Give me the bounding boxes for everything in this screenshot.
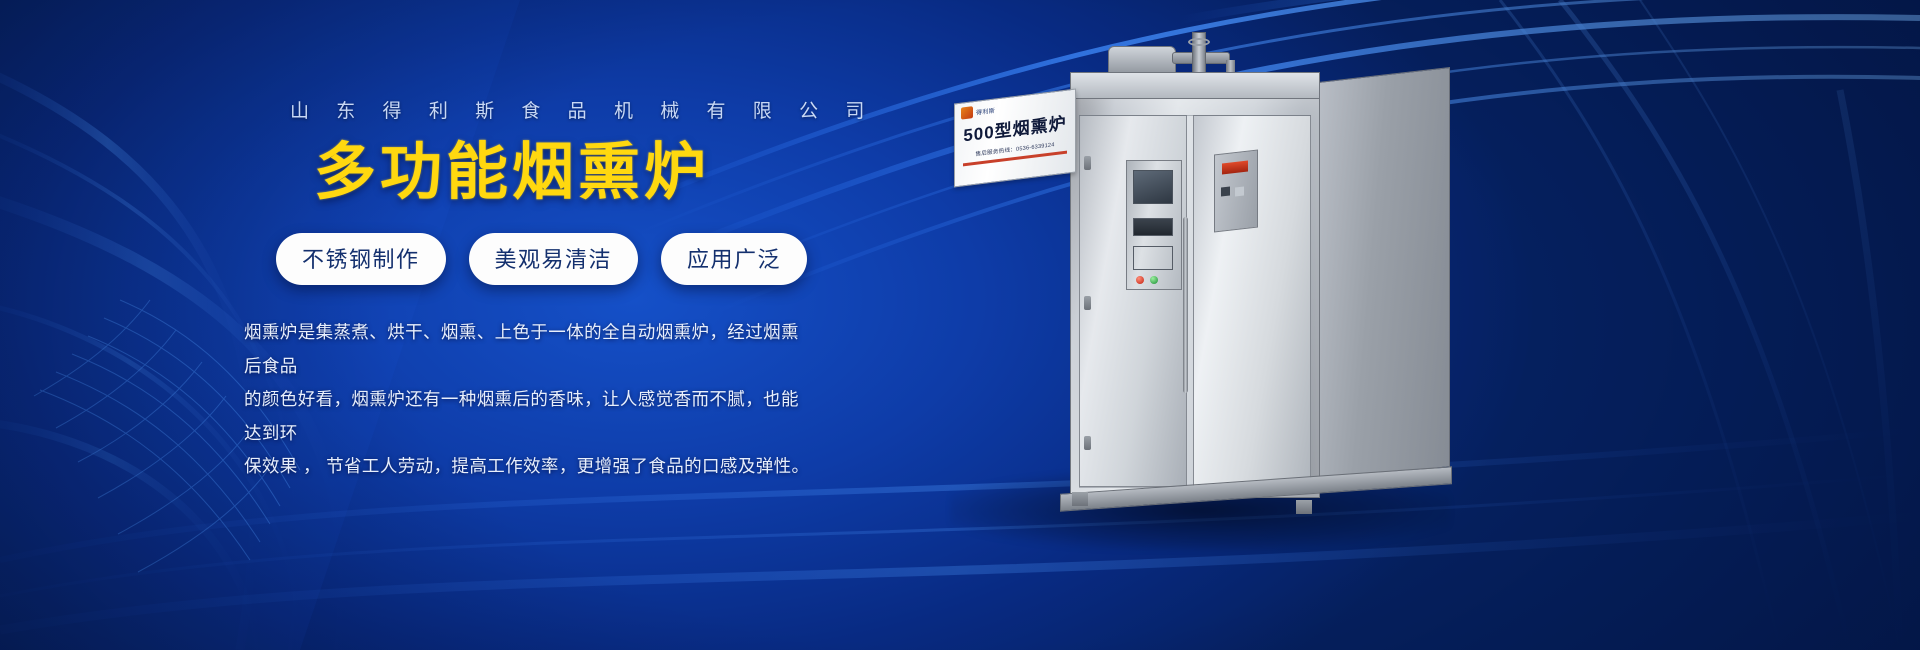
product-image-smokehouse-oven: 得利斯 500型烟熏炉 售后服务热线：0536-6339124 [940,40,1500,560]
machine-nameplate: 得利斯 500型烟熏炉 售后服务热线：0536-6339124 [954,89,1076,188]
door-handle[interactable] [1183,217,1188,393]
side-switch-dark[interactable] [1221,186,1230,196]
company-name: 山 东 得 利 斯 食 品 机 械 有 限 公 司 [288,96,866,123]
description-line-1: 烟熏炉是集蒸煮、烘干、烟熏、上色于一体的全自动烟熏炉，经过烟熏后食品 [244,316,816,383]
machine-foot-right [1296,500,1312,514]
cabinet-front-body [1070,98,1320,498]
cabinet-side-wall [1318,67,1450,482]
status-led-green [1150,276,1158,284]
door-hinge-icon [1084,436,1091,450]
description-line-3: 保效果 ， 节省工人劳动，提高工作效率，更增强了食品的口感及弹性。 [244,450,816,484]
banner-content: 山 东 得 利 斯 食 品 机 械 有 限 公 司 多功能烟熏炉 不锈钢制作 美… [246,96,866,484]
control-panel-display [1133,170,1173,204]
product-description: 烟熏炉是集蒸煮、烘干、烟熏、上色于一体的全自动烟熏炉，经过烟熏后食品 的颜色好看… [244,316,816,484]
status-led-red [1136,276,1144,284]
feature-pill-stainless-steel[interactable]: 不锈钢制作 [276,233,446,285]
machine-foot-left [1072,492,1088,506]
control-panel-keypad[interactable] [1133,218,1173,236]
brand-logo-text: 得利斯 [976,105,995,116]
product-banner: 山 东 得 利 斯 食 品 机 械 有 限 公 司 多功能烟熏炉 不锈钢制作 美… [0,0,1920,650]
door-hinge-icon [1084,156,1091,170]
control-panel-switch-row[interactable] [1133,246,1173,270]
door-hinge-icon [1084,296,1091,310]
feature-pill-group: 不锈钢制作 美观易清洁 应用广泛 [276,233,866,285]
feature-pill-wide-application[interactable]: 应用广泛 [661,233,807,285]
feature-pill-easy-clean[interactable]: 美观易清洁 [469,233,639,285]
page-title: 多功能烟熏炉 [314,140,866,205]
brand-logo-icon [961,106,973,119]
panel-seam [1079,115,1311,116]
side-switch-light[interactable] [1235,186,1244,196]
valve-handwheel [1188,38,1210,46]
description-line-2: 的颜色好看，烟熏炉还有一种烟熏后的香味，让人感觉香而不腻，也能达到环 [244,383,816,450]
